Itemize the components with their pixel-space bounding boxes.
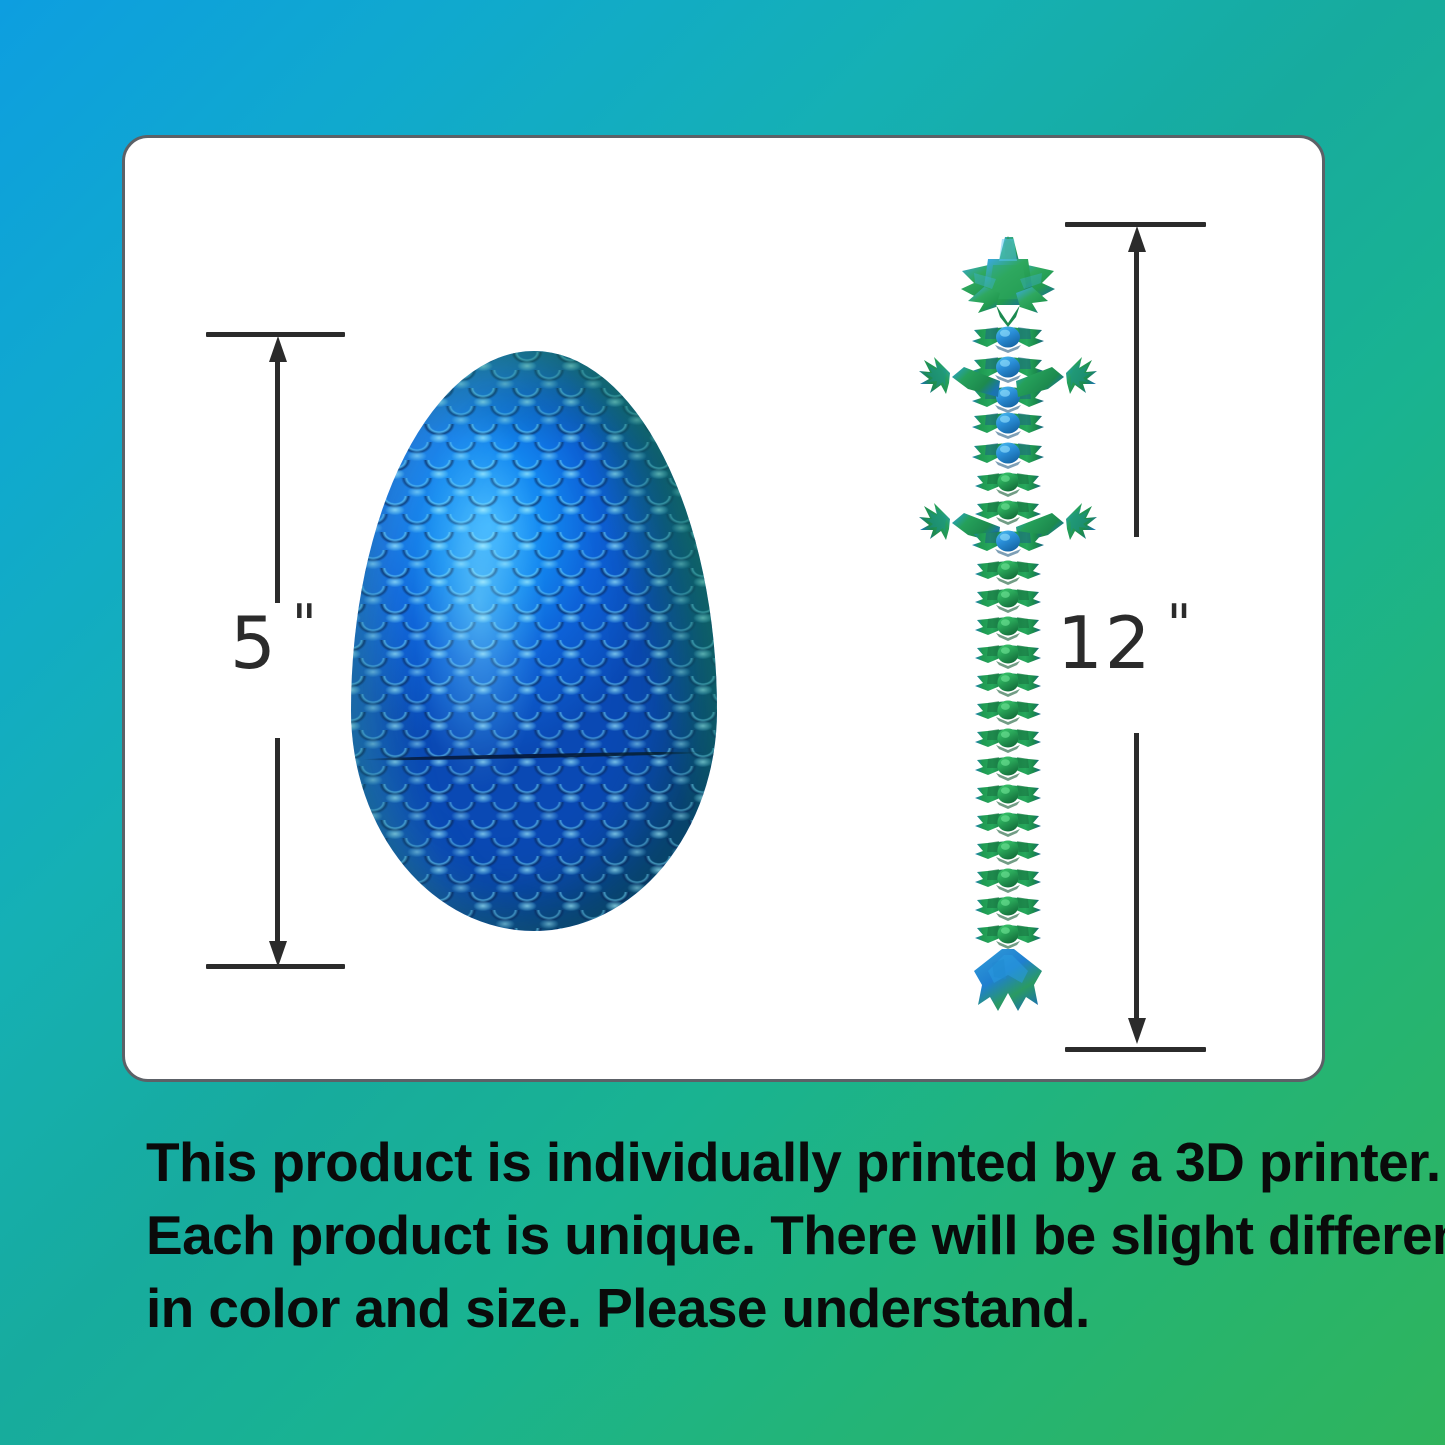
product-photo-card: 5" — [122, 135, 1325, 1082]
dragon-hind-claw-right — [1066, 503, 1097, 540]
dimension-extension-line-bottom — [1065, 1047, 1206, 1052]
dragon-tail-fin — [974, 949, 1042, 1011]
dimension-shaft-upper — [275, 360, 280, 603]
egg-scale-highlights — [351, 351, 717, 931]
caption-line-3: in color and size. Please understand. — [146, 1272, 1346, 1345]
egg-scale-texture-offset — [351, 351, 717, 931]
dimension-unit-egg: " — [292, 593, 317, 656]
dimension-label-egg: 5" — [230, 598, 317, 679]
card-inner: 5" — [125, 138, 1322, 1079]
dragon-front-claw-left — [919, 357, 950, 394]
dragon-hind-claw-left — [919, 503, 950, 540]
egg-scale-texture — [351, 351, 717, 931]
dimension-value-egg: 5 — [230, 601, 278, 685]
dragon-egg-shell — [351, 351, 717, 931]
egg-opening-seam — [362, 750, 706, 761]
dimension-arrowhead-down — [1128, 1018, 1146, 1044]
dimension-shaft-lower — [275, 738, 280, 943]
dragon-torso-upper — [972, 413, 1044, 526]
dragon-tail — [975, 561, 1041, 950]
dimension-shaft-lower — [1134, 733, 1139, 1020]
dimension-unit-dragon: " — [1167, 593, 1192, 656]
dragon-neck — [972, 327, 1044, 414]
dragon-egg-product — [351, 351, 717, 931]
dragon-front-claw-right — [1066, 357, 1097, 394]
dimension-value-dragon: 12 — [1057, 601, 1153, 685]
dimension-extension-line-bottom — [206, 964, 345, 969]
disclaimer-caption: This product is individually printed by … — [146, 1126, 1346, 1345]
dimension-label-dragon: 12" — [1057, 598, 1191, 679]
dragon-head — [961, 236, 1055, 327]
dimension-arrowhead-up — [269, 336, 287, 362]
egg-specular-sheen — [395, 386, 563, 896]
dimension-shaft-upper — [1134, 250, 1139, 537]
caption-line-1: This product is individually printed by … — [146, 1126, 1346, 1199]
caption-line-2: Each product is unique. There will be sl… — [146, 1199, 1346, 1272]
product-listing-image: 5" — [0, 0, 1445, 1445]
dimension-arrowhead-up — [1128, 226, 1146, 252]
egg-scale-highlights-offset — [351, 351, 717, 931]
